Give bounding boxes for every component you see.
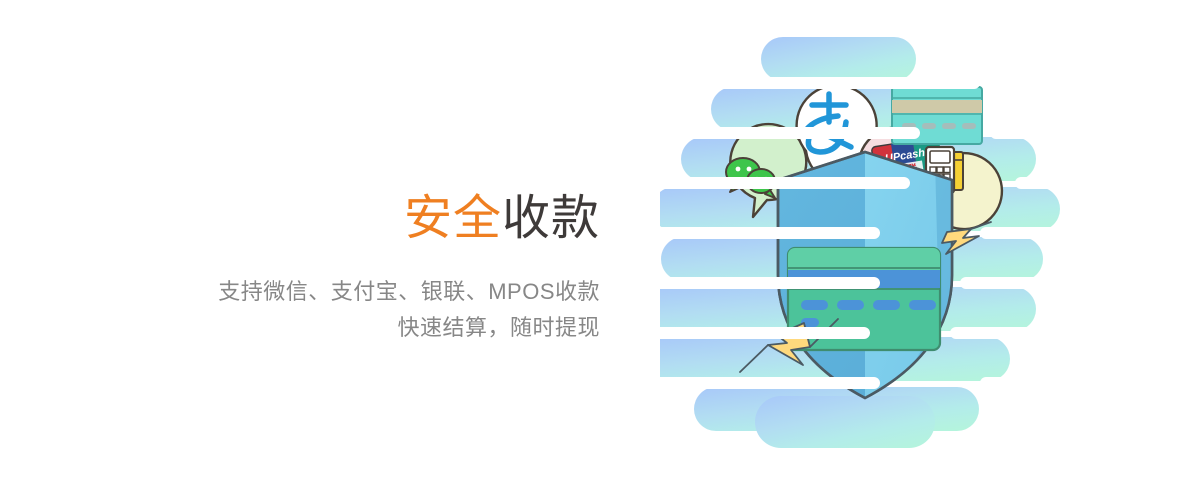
subtitle-line-2: 快速结算，随时提现 [0, 310, 600, 346]
text-block: 安全收款 支持微信、支付宝、银联、MPOS收款 快速结算，随时提现 [0, 190, 600, 346]
headline-rest: 收款 [502, 192, 600, 245]
blob-band [755, 396, 935, 448]
subtitle-line-1: 支持微信、支付宝、银联、MPOS收款 [0, 274, 600, 310]
secure-payment-shield-illustration: UPcash 银联 [660, 0, 1200, 479]
blob-band [761, 37, 916, 81]
payment-banner: 安全收款 支持微信、支付宝、银联、MPOS收款 快速结算，随时提现 [0, 0, 1200, 479]
page-title: 安全收款 [0, 190, 600, 248]
headline-accent: 安全 [404, 192, 502, 245]
